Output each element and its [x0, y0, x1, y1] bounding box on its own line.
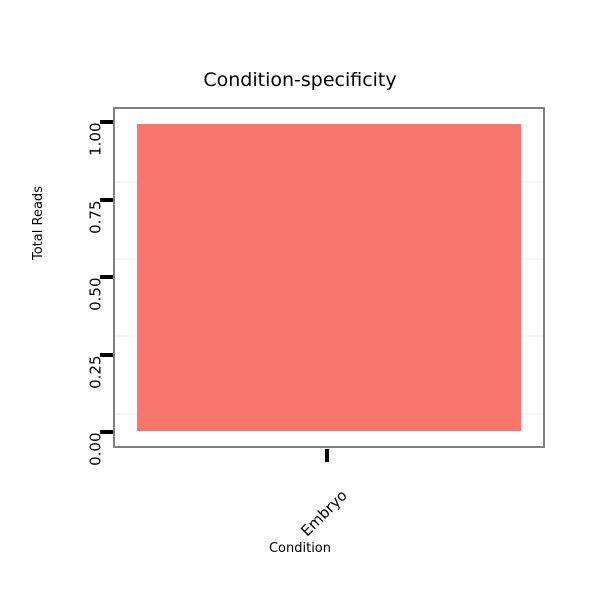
x-tick-label-embryo: Embryo [298, 487, 351, 540]
chart-title: Condition-specificity [0, 68, 600, 92]
panel-inner [115, 109, 543, 446]
y-tick-label-0.00: 0.00 [89, 433, 104, 529]
x-tick-mark-embryo [325, 449, 329, 462]
y-axis-title: Total Reads [31, 224, 47, 260]
plot-panel [113, 107, 545, 448]
x-axis-title: Condition [0, 540, 600, 557]
chart-canvas: Condition-specificity 1.00 0.75 0.50 0.2… [0, 0, 600, 600]
bar-embryo[interactable] [137, 124, 520, 430]
